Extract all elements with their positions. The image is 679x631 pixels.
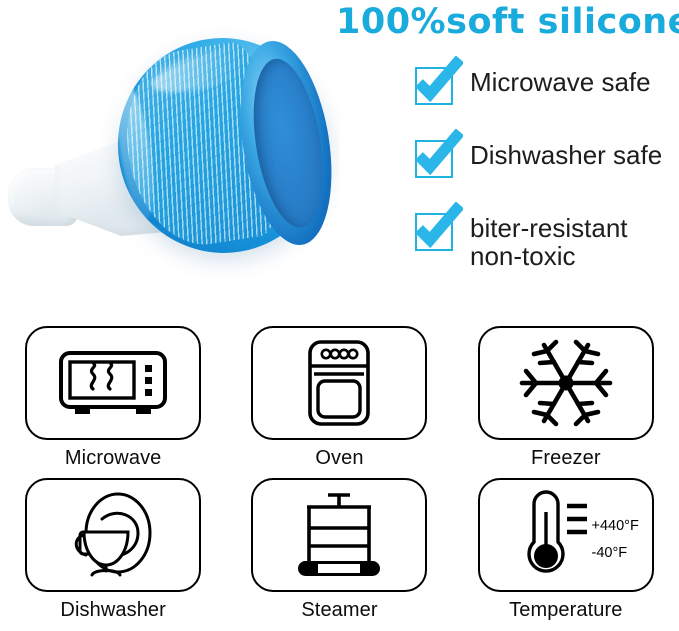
icon-caption: Steamer: [301, 599, 377, 622]
product-image: [0, 18, 340, 280]
capability-cell-dishwasher: Dishwasher: [0, 478, 226, 631]
icon-caption: Microwave: [65, 447, 161, 470]
feature-item-biter-resistant: biter-resistant non-toxic: [412, 208, 679, 270]
icon-caption: Temperature: [509, 599, 622, 622]
dishware-icon: [56, 489, 170, 581]
icon-caption: Oven: [315, 447, 363, 470]
headline-title: 100%soft silicone: [336, 2, 679, 42]
feature-label: Microwave safe: [470, 62, 651, 96]
capability-cell-temperature: +440°F -40°F Temperature: [453, 478, 679, 631]
icon-frame: [478, 326, 654, 440]
oven-icon: [300, 337, 378, 429]
feature-label: Dishwasher safe: [470, 135, 662, 169]
icon-frame: [251, 478, 427, 592]
steamer-icon: [292, 487, 386, 583]
checkbox-checked-icon: [412, 62, 456, 106]
capability-icon-grid: Microwave Oven: [0, 326, 679, 631]
temperature-values: +440°F -40°F: [591, 513, 638, 567]
product-infographic: 100%soft silicone Microwave safe Dishwas…: [0, 0, 679, 631]
checkbox-checked-icon: [412, 135, 456, 179]
snowflake-icon: [514, 333, 618, 433]
icon-caption: Dishwasher: [60, 599, 165, 622]
temperature-max: +440°F: [591, 513, 638, 540]
capability-cell-oven: Oven: [226, 326, 452, 478]
icon-frame: +440°F -40°F: [478, 478, 654, 592]
feature-item-dishwasher-safe: Dishwasher safe: [412, 135, 679, 179]
feature-list: Microwave safe Dishwasher safe biter-res…: [412, 62, 679, 299]
capability-cell-steamer: Steamer: [226, 478, 452, 631]
checkbox-checked-icon: [412, 208, 456, 252]
temperature-min: -40°F: [591, 540, 638, 567]
feature-label: biter-resistant non-toxic: [470, 208, 628, 270]
product-photo: [0, 18, 340, 280]
icon-frame: [25, 478, 201, 592]
icon-frame: [25, 326, 201, 440]
icon-frame: [251, 326, 427, 440]
microwave-icon: [53, 343, 173, 423]
capability-cell-microwave: Microwave: [0, 326, 226, 478]
feature-item-microwave-safe: Microwave safe: [412, 62, 679, 106]
icon-caption: Freezer: [531, 447, 601, 470]
capability-cell-freezer: Freezer: [453, 326, 679, 478]
